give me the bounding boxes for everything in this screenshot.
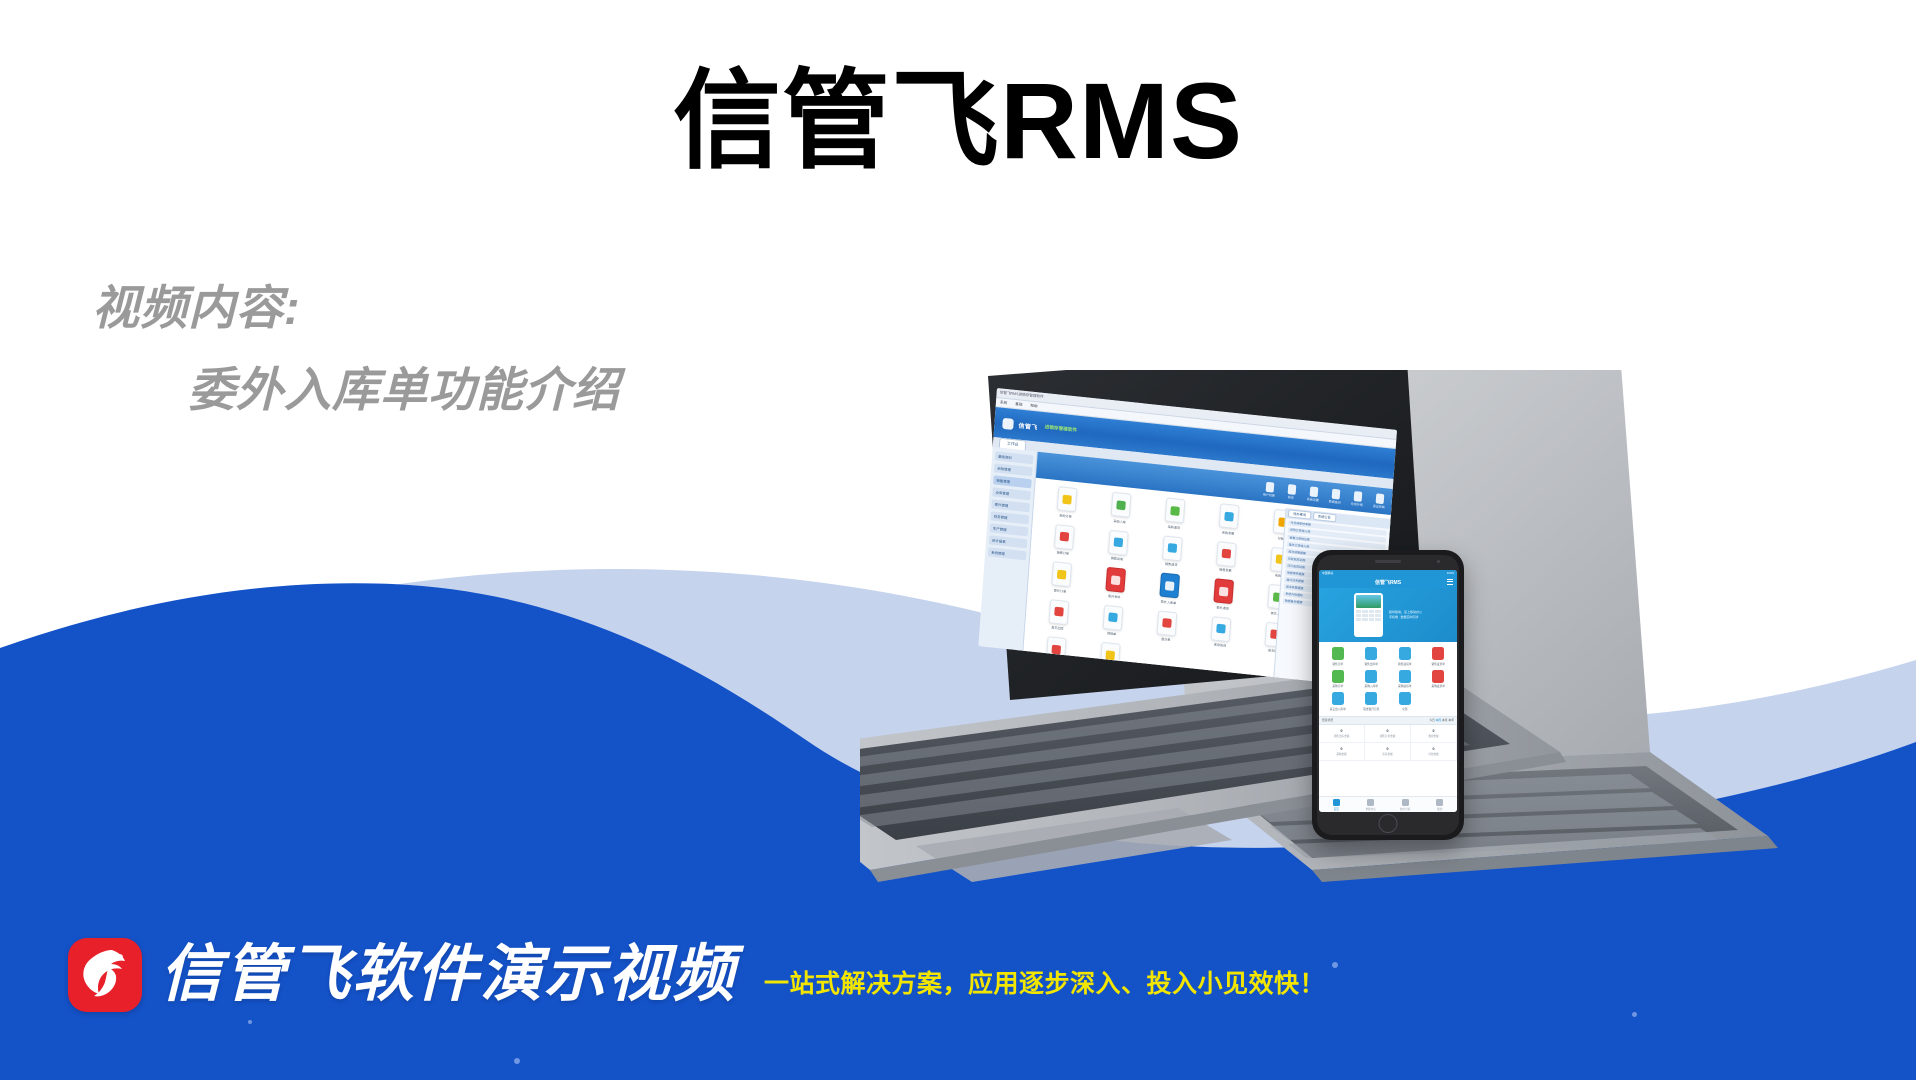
erp-tile[interactable]: 委外订单 [1036, 560, 1086, 596]
erp-menu-system[interactable]: 系统 [1000, 400, 1008, 406]
decor-dot [1332, 962, 1338, 968]
phone-module-grid: 销售订单 销售出库单 销售退货单 销售发票单 采购订单 采购入库单 采购退货单 … [1319, 642, 1457, 716]
phone-tile[interactable]: 采购入库单 [1355, 670, 1389, 689]
module-icon [1054, 524, 1075, 550]
chart-icon [1402, 799, 1409, 806]
phone-stat-cell: 0库存金额 [1365, 743, 1411, 761]
module-icon [1214, 578, 1235, 604]
home-icon [1333, 799, 1340, 806]
phone-nav-documents[interactable]: 单据中心 [1354, 797, 1389, 812]
module-icon [1165, 497, 1186, 523]
erp-sidebar-item-system[interactable]: 系统管理 [988, 547, 1027, 560]
erp-toolbar-upgrade[interactable]: 在线升级 [1350, 490, 1364, 506]
module-icon [1105, 567, 1126, 593]
phone-tile[interactable]: 销售发票单 [1422, 647, 1456, 666]
erp-sidebar-item-purchase[interactable]: 采购管理 [994, 463, 1033, 476]
erp-menu-help[interactable]: 帮助 [1030, 403, 1038, 409]
module-icon [1432, 670, 1444, 683]
phone-section-title: 经营状况 [1322, 718, 1333, 722]
xinguanfei-logo-icon [68, 938, 142, 1012]
phone-hero-banner: 随时随地、掌上移动办公 手机端 · 数据实时同步 [1319, 588, 1457, 642]
erp-tile[interactable]: 采购订单 [1041, 485, 1091, 521]
phone-device: 中国移动 100% 信管飞RMS 随时随地、掌上移动办公 手机端 · 数据实时同… [1312, 550, 1464, 840]
erp-toolbar-backup[interactable]: 数据备份 [1328, 488, 1342, 504]
phone-stat-cell: 0销售出库金额 [1319, 725, 1365, 743]
phone-hero-text: 随时随地、掌上移动办公 手机端 · 数据实时同步 [1389, 610, 1422, 620]
phone-camera-icon [1437, 560, 1440, 563]
phone-home-button[interactable] [1379, 814, 1398, 833]
gear-icon [1309, 486, 1318, 497]
erp-tile[interactable]: 销售出库 [1093, 528, 1143, 564]
phone-battery: 100% [1447, 571, 1454, 575]
phone-speaker-icon [1375, 560, 1401, 563]
phone-filter-today[interactable]: 今日 [1429, 718, 1435, 722]
erp-sidebar-item-basic[interactable]: 基础资料 [995, 451, 1034, 464]
erp-toolbar-switch-user[interactable]: 用户切换 [1262, 481, 1276, 497]
phone-filter-month[interactable]: 本月 [1442, 718, 1448, 722]
banner-title: 信管飞软件演示视频 [160, 944, 736, 1006]
erp-toolbar-settings[interactable]: 系统设置 [1306, 486, 1320, 502]
phone-stat-cell: 0采购金额 [1319, 743, 1365, 761]
module-icon [1216, 541, 1237, 567]
erp-tile[interactable]: 调拨单 [1087, 603, 1137, 639]
phone-tile[interactable]: 采购订单 [1321, 670, 1355, 689]
decor-dot [1632, 1012, 1637, 1017]
erp-right-tab-todo[interactable]: 待办事项 [1288, 509, 1311, 519]
erp-sidebar-item-reports[interactable]: 统计报表 [989, 535, 1028, 548]
banner-tagline: 一站式解决方案，应用逐步深入、投入小见效快！ [764, 972, 1325, 997]
module-icon [1108, 529, 1129, 555]
phone-section-filters: 今日 本周 本月 本年 [1429, 718, 1454, 722]
slide-canvas: 信管飞RMS 视频内容: 委外入库单功能介绍 [0, 0, 1916, 1080]
erp-tile[interactable]: 采购退货 [1150, 496, 1200, 532]
subtitle-block: 视频内容: 委外入库单功能介绍 [92, 280, 620, 419]
module-icon [1399, 647, 1411, 660]
subtitle-label: 视频内容: [92, 280, 620, 336]
grid-apps-icon [1399, 692, 1411, 705]
person-icon [1436, 799, 1443, 806]
erp-sidebar-item-sales[interactable]: 销售管理 [993, 475, 1032, 488]
phone-filter-week[interactable]: 本周 [1436, 718, 1442, 722]
module-icon [1399, 670, 1411, 683]
module-icon [1051, 561, 1072, 587]
module-icon [1102, 604, 1123, 630]
phone-stat-cell: 0付款金额 [1411, 743, 1457, 761]
decor-dot [248, 1020, 252, 1024]
erp-tile[interactable]: 库存查询 [1196, 614, 1246, 650]
erp-brand-subtitle: 进销存管理软件 [1045, 424, 1078, 433]
module-icon [1211, 616, 1232, 642]
erp-sidebar-item-production[interactable]: 生产管理 [990, 523, 1029, 536]
erp-tile[interactable]: 盘点单 [1142, 608, 1192, 644]
erp-sidebar-item-outsource[interactable]: 委外管理 [991, 499, 1030, 512]
module-icon [1432, 647, 1444, 660]
upgrade-icon [1353, 490, 1362, 501]
phone-tile[interactable]: 销售出库单 [1355, 647, 1389, 666]
erp-toolbar-lock[interactable]: 锁定 [1284, 483, 1298, 499]
erp-right-tab-notice[interactable]: 系统公告 [1313, 512, 1336, 522]
phone-tile[interactable]: 现金银行记录 [1355, 692, 1389, 711]
erp-brand-logo-icon [1002, 417, 1014, 429]
phone-nav-profile[interactable]: 我的 [1423, 797, 1458, 812]
phone-hero-line2: 手机端 · 数据实时同步 [1389, 615, 1422, 620]
module-icon [1365, 647, 1377, 660]
erp-tile[interactable]: 委外发料 [1090, 565, 1140, 601]
phone-nav-analytics[interactable]: 统计分析 [1388, 797, 1423, 812]
erp-brand-name: 信管飞 [1018, 420, 1038, 431]
user-switch-icon [1265, 481, 1274, 492]
module-icon [1332, 647, 1344, 660]
phone-hero-mock-icon [1354, 593, 1383, 637]
erp-tile[interactable]: 销售退货 [1147, 533, 1197, 569]
module-icon [1162, 535, 1183, 561]
erp-tile-outsourced-inbound[interactable]: 委外入库单 [1144, 571, 1194, 607]
phone-appbar: 信管飞RMS [1319, 576, 1457, 588]
module-icon [1111, 492, 1132, 518]
phone-tile[interactable]: 采购发票单 [1422, 670, 1456, 689]
module-icon [1332, 670, 1344, 683]
phone-filter-year[interactable]: 本年 [1448, 718, 1454, 722]
power-icon [1375, 493, 1384, 504]
erp-tile[interactable]: 采购入库 [1095, 490, 1145, 526]
phone-stats-grid: 0销售出库金额 0销售订单金额 0收款金额 0采购金额 0库存金额 0付款金额 [1319, 725, 1457, 761]
erp-tile[interactable]: 销售发票 [1201, 539, 1251, 575]
phone-stat-cell: 0销售订单金额 [1365, 725, 1411, 743]
phone-nav-home[interactable]: 首页 [1319, 797, 1354, 812]
phone-tile[interactable]: 采购退货单 [1388, 670, 1422, 689]
document-icon [1367, 799, 1374, 806]
module-icon [1332, 692, 1344, 705]
decor-dot [514, 1058, 520, 1064]
erp-menu-basic[interactable]: 基础 [1015, 402, 1023, 408]
phone-bottom-nav: 首页 单据中心 统计分析 我的 [1319, 796, 1457, 812]
module-icon [1048, 599, 1069, 625]
phone-tile[interactable]: 销售退货单 [1388, 647, 1422, 666]
database-icon [1331, 488, 1340, 499]
erp-tile[interactable]: 其它出库 [1033, 597, 1083, 633]
module-icon [1365, 692, 1377, 705]
phone-tile[interactable]: 全部 [1388, 692, 1422, 711]
module-icon [1159, 572, 1180, 598]
lock-icon [1287, 484, 1296, 495]
erp-sidebar-item-finance[interactable]: 财务管理 [990, 511, 1029, 524]
bottom-banner: 信管飞软件演示视频 一站式解决方案，应用逐步深入、投入小见效快！ [68, 938, 1325, 1012]
subtitle-topic: 委外入库单功能介绍 [188, 362, 620, 418]
phone-stat-cell: 0收款金额 [1411, 725, 1457, 743]
module-icon [1219, 503, 1240, 529]
phone-section-header: 经营状况 今日 本周 本月 本年 [1319, 716, 1457, 725]
phone-app-title: 信管飞RMS [1375, 579, 1401, 586]
erp-tile[interactable]: 委外退货 [1198, 577, 1248, 613]
erp-tile[interactable]: 采购发票 [1204, 502, 1254, 538]
hamburger-menu-icon[interactable] [1447, 579, 1453, 586]
erp-tile[interactable]: 销售订单 [1039, 522, 1089, 558]
erp-sidebar-item-warehouse[interactable]: 仓库管理 [992, 487, 1031, 500]
module-icon [1056, 486, 1077, 512]
devices-illustration: 信管飞RMS进销存管理软件 系统 基础 帮助 信管飞 进销存管理软件 工作台 [860, 370, 1916, 950]
phone-tile[interactable]: 其它出入库单 [1321, 692, 1355, 711]
module-icon [1157, 610, 1178, 636]
erp-toolbar-exit[interactable]: 退出系统 [1372, 493, 1386, 509]
phone-screen: 中国移动 100% 信管飞RMS 随时随地、掌上移动办公 手机端 · 数据实时同… [1319, 570, 1457, 812]
page-title: 信管飞RMS [0, 62, 1916, 181]
module-icon [1365, 670, 1377, 683]
phone-tile[interactable]: 销售订单 [1321, 647, 1355, 666]
phone-carrier: 中国移动 [1322, 571, 1333, 575]
